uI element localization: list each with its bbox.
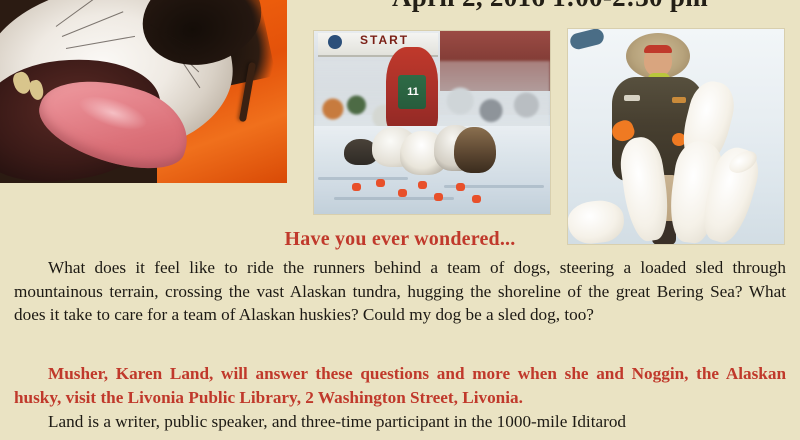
photo-musher-huskies (567, 28, 785, 245)
subheading: Have you ever wondered... (0, 228, 800, 251)
event-date-time: April 2, 2016 1:00-2:30 pm (300, 0, 800, 14)
photo-sled-team-start: START 11 (313, 30, 551, 215)
dog-bootie (418, 181, 427, 189)
dog-bootie (352, 183, 361, 191)
dog-bootie (434, 193, 443, 201)
tail-paragraph-block: Land is a writer, public speaker, and th… (14, 410, 786, 434)
paragraph-event-details: Musher, Karen Land, will answer these qu… (14, 362, 786, 409)
dog-bootie (472, 195, 481, 203)
paragraph-bio: Land is a writer, public speaker, and th… (14, 410, 786, 434)
banner-logo-icon (328, 35, 342, 49)
highlight-paragraph-block: Musher, Karen Land, will answer these qu… (14, 362, 786, 409)
paragraph-questions: What does it feel like to ride the runne… (14, 256, 786, 327)
red-cap (644, 45, 672, 53)
body-paragraph-block: What does it feel like to ride the runne… (14, 256, 786, 327)
parka-patch (624, 95, 640, 101)
sled-dog (454, 127, 496, 173)
photo-dog-closeup (0, 0, 287, 183)
race-bib-number: 11 (403, 86, 423, 98)
snow-streak (318, 177, 408, 180)
dog-bootie (456, 183, 465, 191)
dog-bootie (398, 189, 407, 197)
start-banner-label: START (360, 33, 409, 47)
parka-patch (672, 97, 686, 103)
flyer-page: April 2, 2016 1:00-2:30 pm START 11 (0, 0, 800, 440)
dog-bootie (376, 179, 385, 187)
